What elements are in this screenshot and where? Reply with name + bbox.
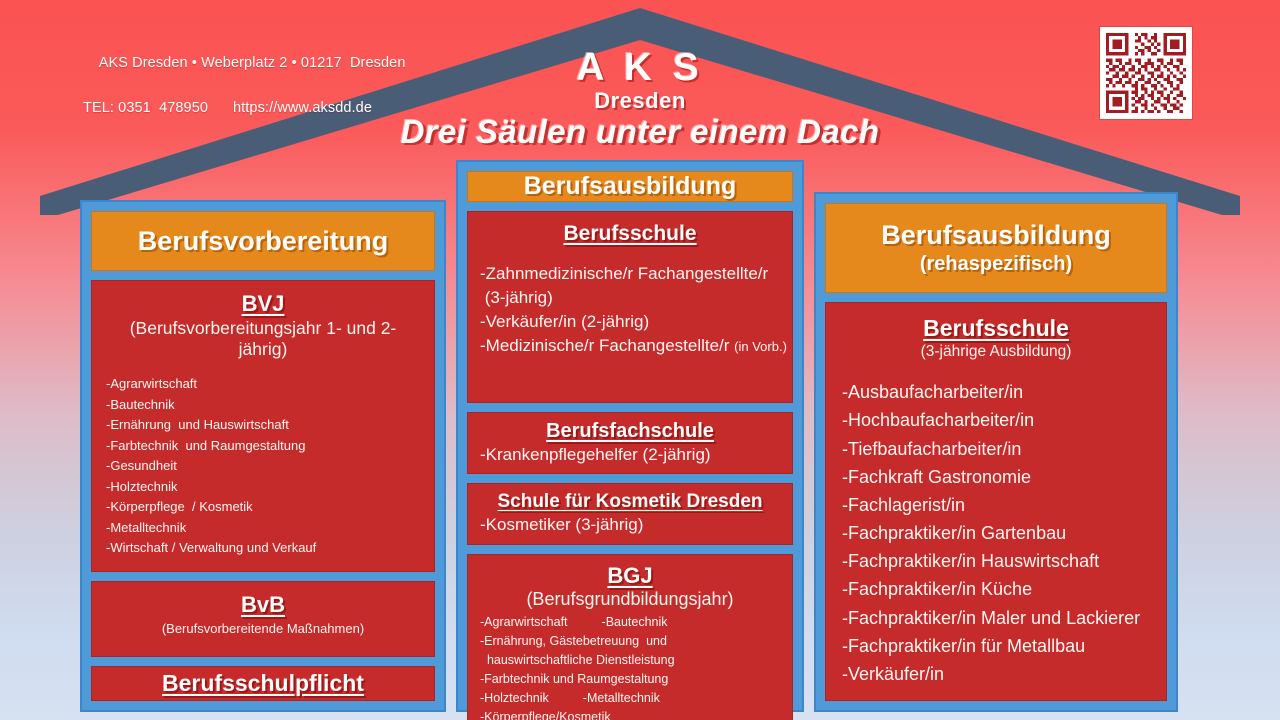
list-item: -Ernährung, Gästebetreuung und bbox=[480, 632, 780, 651]
box-berufsschule-center: Berufsschule -Zahnmedizinische/r Fachang… bbox=[467, 211, 793, 403]
box-berufsschulpflicht: Berufsschulpflicht bbox=[91, 666, 435, 701]
box-berufsfachschule: Berufsfachschule -Krankenpflegehelfer (2… bbox=[467, 412, 793, 474]
column-header-berufsausbildung-reha: Berufsausbildung (rehaspezifisch) bbox=[825, 203, 1167, 293]
list-item-col2: -Bautechnik bbox=[602, 613, 668, 632]
list-item: -Farbtechnik und Raumgestaltung bbox=[480, 670, 780, 689]
bvj-list: -Agrarwirtschaft -Bautechnik -Ernährung … bbox=[106, 374, 420, 559]
website-url[interactable]: https://www.aksdd.de bbox=[233, 100, 372, 116]
column-berufsausbildung-reha: Berufsausbildung (rehaspezifisch) Berufs… bbox=[814, 192, 1178, 712]
contact-line-2: TEL: 0351 478950https://www.aksdd.de bbox=[83, 97, 406, 119]
box-bvb: BvB (Berufsvorbereitende Maßnahmen) bbox=[91, 581, 435, 657]
list-item: (3-jährig) bbox=[480, 286, 780, 310]
column-header-berufsausbildung: Berufsausbildung bbox=[467, 171, 793, 202]
bvb-title: BvB bbox=[102, 592, 424, 618]
list-item-col1: -Holztechnik bbox=[480, 691, 549, 705]
column-berufsausbildung: Berufsausbildung Berufsschule -Zahnmediz… bbox=[456, 160, 804, 712]
qr-code-icon[interactable] bbox=[1100, 27, 1192, 119]
list-item: -Verkäufer/in (2-jährig) bbox=[480, 310, 780, 334]
list-item: hauswirtschaftliche Dienstleistung bbox=[480, 651, 780, 670]
box-schule-fuer-kosmetik: Schule für Kosmetik Dresden -Kosmetiker … bbox=[467, 483, 793, 545]
list-item: -Fachpraktiker/in Küche bbox=[842, 575, 1150, 603]
box-berufsschule-right: Berufsschule (3-jährige Ausbildung) -Aus… bbox=[825, 302, 1167, 701]
box-bgj: BGJ (Berufsgrundbildungsjahr) -Agrarwirt… bbox=[467, 554, 793, 720]
list-item: -Holztechnik-Metalltechnik bbox=[480, 689, 780, 708]
list-item-col1: -Körperpflege/Kosmetik bbox=[480, 710, 611, 720]
list-item-text: (3-jährig) bbox=[480, 288, 553, 307]
telephone: TEL: 0351 478950 bbox=[83, 97, 233, 119]
list-item: -Fachpraktiker/in für Metallbau bbox=[842, 632, 1150, 660]
list-item-text: -Zahnmedizinische/r Fachangestellte/r bbox=[480, 264, 768, 283]
bvb-subtitle: (Berufsvorbereitende Maßnahmen) bbox=[102, 621, 424, 636]
berufsschule-right-list: -Ausbaufacharbeiter/in -Hochbaufacharbei… bbox=[842, 378, 1150, 688]
list-item: -Bautechnik bbox=[106, 395, 420, 416]
list-item: -Metalltechnik bbox=[106, 518, 420, 539]
list-item-col1: -Farbtechnik und Raumgestaltung bbox=[480, 672, 668, 686]
list-item: -Ausbaufacharbeiter/in bbox=[842, 378, 1150, 406]
box-bvj: BVJ (Berufsvorbereitungsjahr 1- und 2-jä… bbox=[91, 280, 435, 572]
poster-canvas: AKS Dresden • Weberplatz 2 • 01217 Dresd… bbox=[0, 0, 1280, 720]
kosmetik-title: Schule für Kosmetik Dresden bbox=[480, 491, 780, 513]
bvj-title: BVJ bbox=[106, 291, 420, 317]
list-item: -Hochbaufacharbeiter/in bbox=[842, 406, 1150, 434]
list-item: -Holztechnik bbox=[106, 477, 420, 498]
berufsschule-right-title: Berufsschule bbox=[842, 315, 1150, 342]
list-item-note: (in Vorb.) bbox=[734, 339, 787, 354]
list-item-text: -Medizinische/r Fachangestellte/r bbox=[480, 336, 734, 355]
column-header-berufsvorbereitung: Berufsvorbereitung bbox=[91, 211, 435, 271]
list-item: -Agrarwirtschaft bbox=[106, 374, 420, 395]
list-item: -Körperpflege / Kosmetik bbox=[106, 497, 420, 518]
list-item: -Körperpflege/Kosmetik bbox=[480, 708, 780, 720]
list-item-text: -Verkäufer/in (2-jährig) bbox=[480, 312, 649, 331]
berufsschule-center-list: -Zahnmedizinische/r Fachangestellte/r (3… bbox=[480, 262, 780, 359]
berufsfachschule-title: Berufsfachschule bbox=[480, 420, 780, 443]
list-item: -Wirtschaft / Verwaltung und Verkauf bbox=[106, 538, 420, 559]
bgj-title: BGJ bbox=[480, 563, 780, 589]
list-item: -Gesundheit bbox=[106, 456, 420, 477]
list-item: -Verkäufer/in bbox=[842, 660, 1150, 688]
berufsschulpflicht-title: Berufsschulpflicht bbox=[162, 670, 364, 697]
berufsfachschule-list: -Krankenpflegehelfer (2-jährig) bbox=[480, 444, 780, 466]
list-item: -Farbtechnik und Raumgestaltung bbox=[106, 436, 420, 457]
list-item: -Fachpraktiker/in Maler und Lackierer bbox=[842, 604, 1150, 632]
list-item: -Krankenpflegehelfer (2-jährig) bbox=[480, 444, 780, 466]
list-item-col1: -Agrarwirtschaft bbox=[480, 615, 568, 629]
contact-info: AKS Dresden • Weberplatz 2 • 01217 Dresd… bbox=[83, 30, 406, 165]
bvj-subtitle: (Berufsvorbereitungsjahr 1- und 2-jährig… bbox=[106, 318, 420, 360]
berufsschule-center-title: Berufsschule bbox=[480, 222, 780, 246]
kosmetik-list: -Kosmetiker (3-jährig) bbox=[480, 514, 780, 536]
berufsschule-right-subtitle: (3-jährige Ausbildung) bbox=[842, 343, 1150, 361]
bgj-list: -Agrarwirtschaft-Bautechnik -Ernährung, … bbox=[480, 613, 780, 720]
list-item: -Fachkraft Gastronomie bbox=[842, 463, 1150, 491]
address-line: AKS Dresden • Weberplatz 2 • 01217 Dresd… bbox=[99, 55, 406, 71]
column-berufsvorbereitung: Berufsvorbereitung BVJ (Berufsvorbereitu… bbox=[80, 200, 446, 712]
bgj-subtitle: (Berufsgrundbildungsjahr) bbox=[480, 589, 780, 610]
list-item-col1: -Ernährung, Gästebetreuung und bbox=[480, 634, 667, 648]
list-item: -Fachlagerist/in bbox=[842, 491, 1150, 519]
list-item-col1: hauswirtschaftliche Dienstleistung bbox=[480, 653, 675, 667]
reha-header-main: Berufsausbildung bbox=[881, 221, 1111, 251]
list-item: -Fachpraktiker/in Hauswirtschaft bbox=[842, 547, 1150, 575]
list-item: -Zahnmedizinische/r Fachangestellte/r bbox=[480, 262, 780, 286]
list-item: -Agrarwirtschaft-Bautechnik bbox=[480, 613, 780, 632]
list-item: -Medizinische/r Fachangestellte/r (in Vo… bbox=[480, 334, 780, 358]
list-item: -Tiefbaufacharbeiter/in bbox=[842, 435, 1150, 463]
list-item: -Ernährung und Hauswirtschaft bbox=[106, 415, 420, 436]
list-item: -Kosmetiker (3-jährig) bbox=[480, 514, 780, 536]
list-item-col2: -Metalltechnik bbox=[583, 689, 660, 708]
reha-header-sub: (rehaspezifisch) bbox=[920, 253, 1072, 275]
list-item: -Fachpraktiker/in Gartenbau bbox=[842, 519, 1150, 547]
